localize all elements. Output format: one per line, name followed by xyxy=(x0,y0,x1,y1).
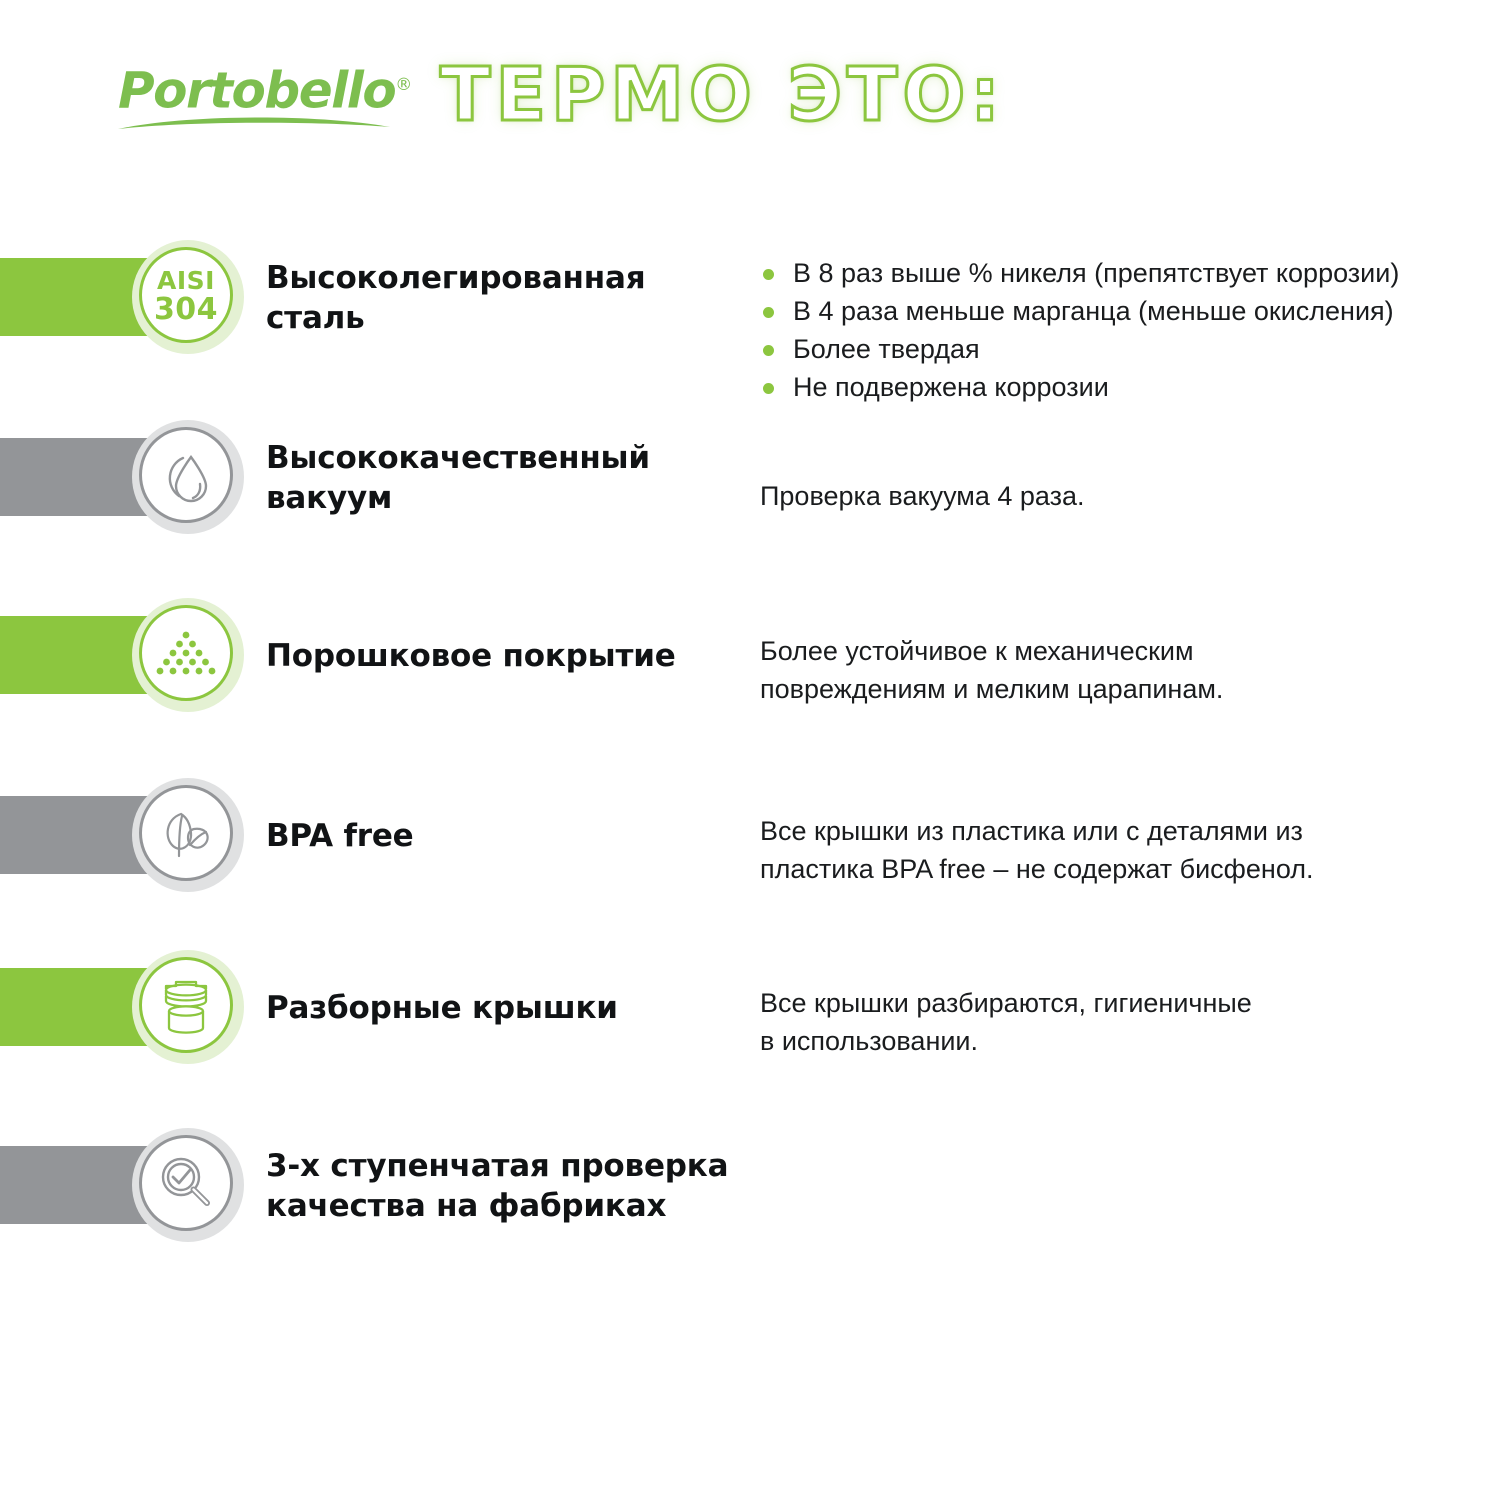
lid-icon xyxy=(139,957,233,1053)
aisi-badge-text: AISI 304 xyxy=(154,266,218,324)
feature-title: BPA free xyxy=(266,816,414,856)
feature-title-line: вакуум xyxy=(266,478,650,518)
registered-trademark-icon: ® xyxy=(395,75,412,95)
magnifier-check-glyph xyxy=(154,1151,218,1215)
water-drop-icon xyxy=(139,427,233,523)
aisi-badge-line1: AISI xyxy=(154,266,218,295)
aisi-badge-line2: 304 xyxy=(154,295,218,324)
powder-dots-icon xyxy=(139,605,233,701)
feature-title-line: Разборные крышки xyxy=(266,988,618,1028)
feature-title-line: качества на фабриках xyxy=(266,1186,728,1226)
feature-title-line: BPA free xyxy=(266,816,414,856)
list-item: Не подвержена коррозии xyxy=(760,368,1399,406)
feature-bullet-list: В 8 раз выше % никеля (препятствует корр… xyxy=(760,254,1399,406)
feature-title-line: Порошковое покрытие xyxy=(266,636,676,676)
feature-title: 3-х ступенчатая проверка качества на фаб… xyxy=(266,1146,728,1226)
feature-description-line: Все крышки из пластика или с деталями из xyxy=(760,812,1314,850)
magnifier-check-icon xyxy=(139,1135,233,1231)
page-header: Portobello® ТЕРМО ЭТО: xyxy=(0,0,1500,200)
feature-description: Более устойчивое к механическим поврежде… xyxy=(760,632,1223,708)
lid-glyph xyxy=(154,973,218,1037)
list-item: В 4 раза меньше марганца (меньше окислен… xyxy=(760,292,1399,330)
list-item: Более твердая xyxy=(760,330,1399,368)
feature-description: Проверка вакуума 4 раза. xyxy=(760,477,1085,515)
feature-description-line: пластика BPA free – не содержат бисфенол… xyxy=(760,850,1314,888)
powder-dots-glyph xyxy=(155,622,217,684)
page-title: ТЕРМО ЭТО: xyxy=(440,52,1005,138)
feature-title: Разборные крышки xyxy=(266,988,618,1028)
aisi-304-badge-icon: AISI 304 xyxy=(139,247,233,343)
logo-swoosh-icon xyxy=(118,116,390,132)
feature-description-line: Более устойчивое к механическим xyxy=(760,632,1223,670)
feature-title: Высоколегированная сталь xyxy=(266,258,645,338)
feature-description-line: повреждениям и мелким царапинам. xyxy=(760,670,1223,708)
feature-description-line: в использовании. xyxy=(760,1022,1252,1060)
feature-title-line: 3-х ступенчатая проверка xyxy=(266,1146,728,1186)
leaves-glyph xyxy=(155,802,217,864)
feature-description-line: Все крышки разбираются, гигиеничные xyxy=(760,984,1252,1022)
feature-title-line: Высоколегированная xyxy=(266,258,645,298)
brand-logo: Portobello® xyxy=(118,58,408,148)
leaves-icon xyxy=(139,785,233,881)
brand-logo-text: Portobello® xyxy=(118,58,408,118)
water-drop-glyph xyxy=(155,444,217,506)
feature-description: Все крышки разбираются, гигиеничные в ис… xyxy=(760,984,1252,1060)
brand-logo-wordmark: Portobello xyxy=(118,62,395,120)
feature-title: Порошковое покрытие xyxy=(266,636,676,676)
feature-title-line: сталь xyxy=(266,298,645,338)
feature-description-line: Проверка вакуума 4 раза. xyxy=(760,477,1085,515)
feature-title-line: Высококачественный xyxy=(266,438,650,478)
list-item: В 8 раз выше % никеля (препятствует корр… xyxy=(760,254,1399,292)
feature-title: Высококачественный вакуум xyxy=(266,438,650,518)
feature-description: Все крышки из пластика или с деталями из… xyxy=(760,812,1314,888)
